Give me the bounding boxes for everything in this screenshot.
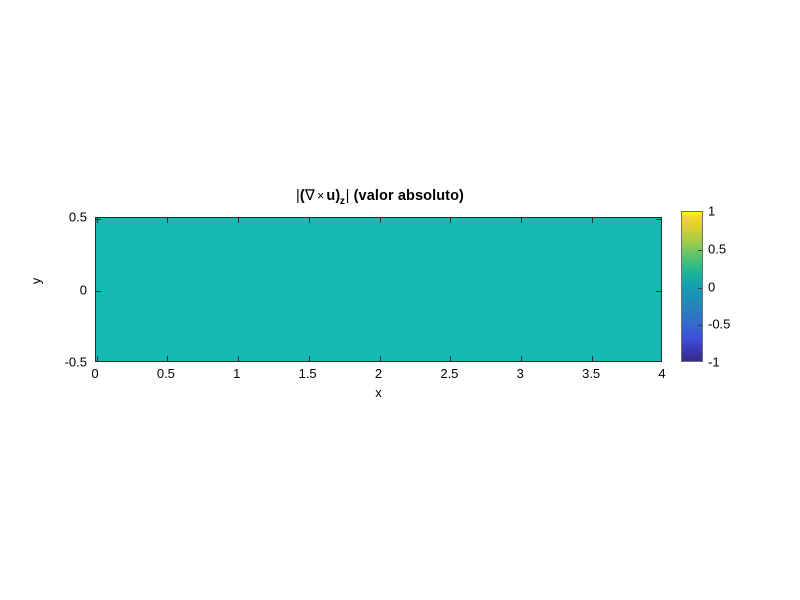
x-tick-mark-top bbox=[662, 218, 663, 223]
x-tick-mark-top bbox=[380, 218, 381, 223]
colorbar-tick-label: -1 bbox=[708, 355, 720, 370]
plot-title: |(∇×u)z| (valor absoluto) bbox=[0, 186, 760, 204]
y-tick-mark-right bbox=[656, 362, 661, 363]
x-tick-label: 2 bbox=[375, 366, 382, 381]
colorbar-tick-mark bbox=[698, 250, 702, 251]
x-tick-mark bbox=[380, 356, 381, 361]
colorbar-tick-label: 1 bbox=[708, 204, 715, 219]
y-tick-mark-right bbox=[656, 219, 661, 220]
title-vector-u: u bbox=[326, 188, 335, 204]
x-tick-mark bbox=[662, 356, 663, 361]
x-tick-mark bbox=[97, 356, 98, 361]
y-tick-label: 0.5 bbox=[69, 210, 87, 225]
x-tick-label: 1.5 bbox=[299, 366, 317, 381]
y-tick-mark bbox=[96, 362, 101, 363]
x-tick-label: 3.5 bbox=[582, 366, 600, 381]
x-tick-mark-top bbox=[167, 218, 168, 223]
cross-product-icon: × bbox=[315, 189, 326, 203]
nabla-icon: ∇ bbox=[305, 187, 315, 204]
x-tick-mark-top bbox=[238, 218, 239, 223]
y-tick-label: -0.5 bbox=[65, 355, 87, 370]
x-tick-mark bbox=[167, 356, 168, 361]
x-axis-label: x bbox=[95, 385, 662, 400]
x-tick-mark-top bbox=[450, 218, 451, 223]
title-rest: (valor absoluto) bbox=[350, 188, 465, 204]
x-tick-label: 4 bbox=[658, 366, 665, 381]
x-tick-label: 1 bbox=[233, 366, 240, 381]
colorbar-tick-label: -0.5 bbox=[708, 317, 730, 332]
x-tick-mark bbox=[592, 356, 593, 361]
x-tick-mark bbox=[309, 356, 310, 361]
colorbar-tick-mark bbox=[698, 288, 702, 289]
x-tick-mark bbox=[238, 356, 239, 361]
colorbar-tick-mark bbox=[698, 325, 702, 326]
x-tick-label: 3 bbox=[517, 366, 524, 381]
y-tick-label: 0 bbox=[80, 282, 87, 297]
plot-axes[interactable] bbox=[95, 217, 662, 362]
colorbar[interactable] bbox=[681, 211, 703, 362]
x-tick-mark bbox=[521, 356, 522, 361]
x-tick-label: 0 bbox=[91, 366, 98, 381]
x-tick-mark-top bbox=[521, 218, 522, 223]
colorbar-tick-label: 0.5 bbox=[708, 241, 726, 256]
matlab-figure: |(∇×u)z| (valor absoluto) 00.511.522.533… bbox=[0, 0, 800, 600]
y-tick-mark-right bbox=[656, 291, 661, 292]
title-subscript-z: z bbox=[340, 195, 345, 207]
y-tick-mark bbox=[96, 219, 101, 220]
heatmap-image bbox=[96, 218, 661, 361]
x-tick-mark-top bbox=[309, 218, 310, 223]
y-tick-mark bbox=[96, 291, 101, 292]
x-tick-label: 0.5 bbox=[157, 366, 175, 381]
y-axis-label: y bbox=[29, 278, 44, 285]
x-tick-label: 2.5 bbox=[440, 366, 458, 381]
x-tick-mark bbox=[450, 356, 451, 361]
colorbar-tick-label: 0 bbox=[708, 279, 715, 294]
x-tick-mark-top bbox=[592, 218, 593, 223]
